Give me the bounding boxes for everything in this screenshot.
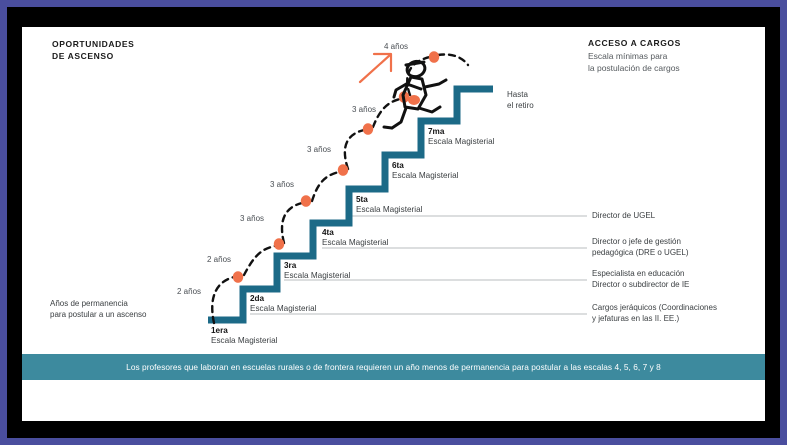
- permanencia-line1: Años de permanencia: [50, 298, 147, 309]
- step-6ta-ordinal: 6ta: [392, 161, 458, 171]
- permanencia-label: Años de permanencia para postular a un a…: [50, 298, 147, 320]
- dot-5: [363, 123, 373, 135]
- years-label-2: 2 años: [207, 255, 231, 264]
- dash-arc-4: [312, 172, 339, 201]
- step-1era-escala: Escala Magisterial: [211, 336, 277, 347]
- step-label-6ta: 6ta Escala Magisterial: [392, 161, 458, 182]
- step-5ta-ordinal: 5ta: [356, 195, 422, 205]
- step-label-2da: 2da Escala Magisterial: [250, 294, 316, 315]
- step-2da-escala: Escala Magisterial: [250, 304, 316, 315]
- retiro-label: Hasta el retiro: [507, 89, 534, 111]
- dot-7: [429, 51, 439, 63]
- person-accent-patch: [408, 95, 420, 105]
- step-4ta-ordinal: 4ta: [322, 228, 388, 238]
- cargo-label-director-gestion: Director o jefe de gestión pedagógica (D…: [592, 236, 689, 258]
- step-label-5ta: 5ta Escala Magisterial: [356, 195, 422, 216]
- years-label-3: 3 años: [240, 214, 264, 223]
- years-label-7: 4 años: [384, 42, 408, 51]
- cargo-4-line1: Cargos jeráquicos (Coordinaciones: [592, 302, 717, 313]
- orange-up-arrow-icon: [360, 54, 391, 82]
- permanencia-line2: para postular a un ascenso: [50, 309, 147, 320]
- cargo-label-director-ugel: Director de UGEL: [592, 210, 655, 221]
- dot-2: [274, 238, 284, 250]
- outer-purple-frame: OPORTUNIDADES DE ASCENSO ACCESO A CARGOS…: [0, 0, 787, 445]
- retiro-line2: el retiro: [507, 100, 534, 111]
- dot-3: [301, 195, 311, 207]
- dot-4: [338, 164, 348, 176]
- step-5ta-escala: Escala Magisterial: [356, 205, 422, 216]
- step-2da-ordinal: 2da: [250, 294, 316, 304]
- step-1era-ordinal: 1era: [211, 326, 277, 336]
- dash-arc-1: [212, 277, 234, 323]
- step-4ta-escala: Escala Magisterial: [322, 238, 388, 249]
- cargo-label-especialista: Especialista en educación Director o sub…: [592, 268, 689, 290]
- dash-arc-5: [345, 130, 364, 169]
- years-label-6: 3 años: [352, 105, 376, 114]
- years-label-5: 3 años: [307, 145, 331, 154]
- bottom-note-text: Los profesores que laboran en escuelas r…: [126, 362, 661, 372]
- step-6ta-escala: Escala Magisterial: [392, 171, 458, 182]
- dash-arc-2: [244, 246, 275, 275]
- dash-arc-6: [373, 99, 400, 127]
- cargo-3-line1: Especialista en educación: [592, 268, 689, 279]
- dashed-progress-path: [212, 54, 468, 323]
- cargo-4-line2: y jefaturas en las II. EE.): [592, 313, 717, 324]
- step-label-1era: 1era Escala Magisterial: [211, 326, 277, 347]
- dot-1: [233, 271, 243, 283]
- cargo-2-line1: Director o jefe de gestión: [592, 236, 689, 247]
- step-label-3ra: 3ra Escala Magisterial: [284, 261, 350, 282]
- cargo-3-line2: Director o subdirector de IE: [592, 279, 689, 290]
- stair-path: [208, 89, 493, 320]
- step-label-4ta: 4ta Escala Magisterial: [322, 228, 388, 249]
- cargo-label-cargos-jerarquicos: Cargos jeráquicos (Coordinaciones y jefa…: [592, 302, 717, 324]
- cargo-2-line2: pedagógica (DRE o UGEL): [592, 247, 689, 258]
- retiro-line1: Hasta: [507, 89, 534, 100]
- step-3ra-ordinal: 3ra: [284, 261, 350, 271]
- bottom-note-banner: Los profesores que laboran en escuelas r…: [22, 354, 765, 380]
- step-label-7ma: 7ma Escala Magisterial: [428, 127, 494, 148]
- years-label-4: 3 años: [270, 180, 294, 189]
- step-7ma-ordinal: 7ma: [428, 127, 494, 137]
- cargo-1-line1: Director de UGEL: [592, 210, 655, 221]
- dash-arc-8: [438, 54, 468, 65]
- years-label-1: 2 años: [177, 287, 201, 296]
- step-3ra-escala: Escala Magisterial: [284, 271, 350, 282]
- dash-arc-3: [282, 203, 302, 243]
- step-7ma-escala: Escala Magisterial: [428, 137, 494, 148]
